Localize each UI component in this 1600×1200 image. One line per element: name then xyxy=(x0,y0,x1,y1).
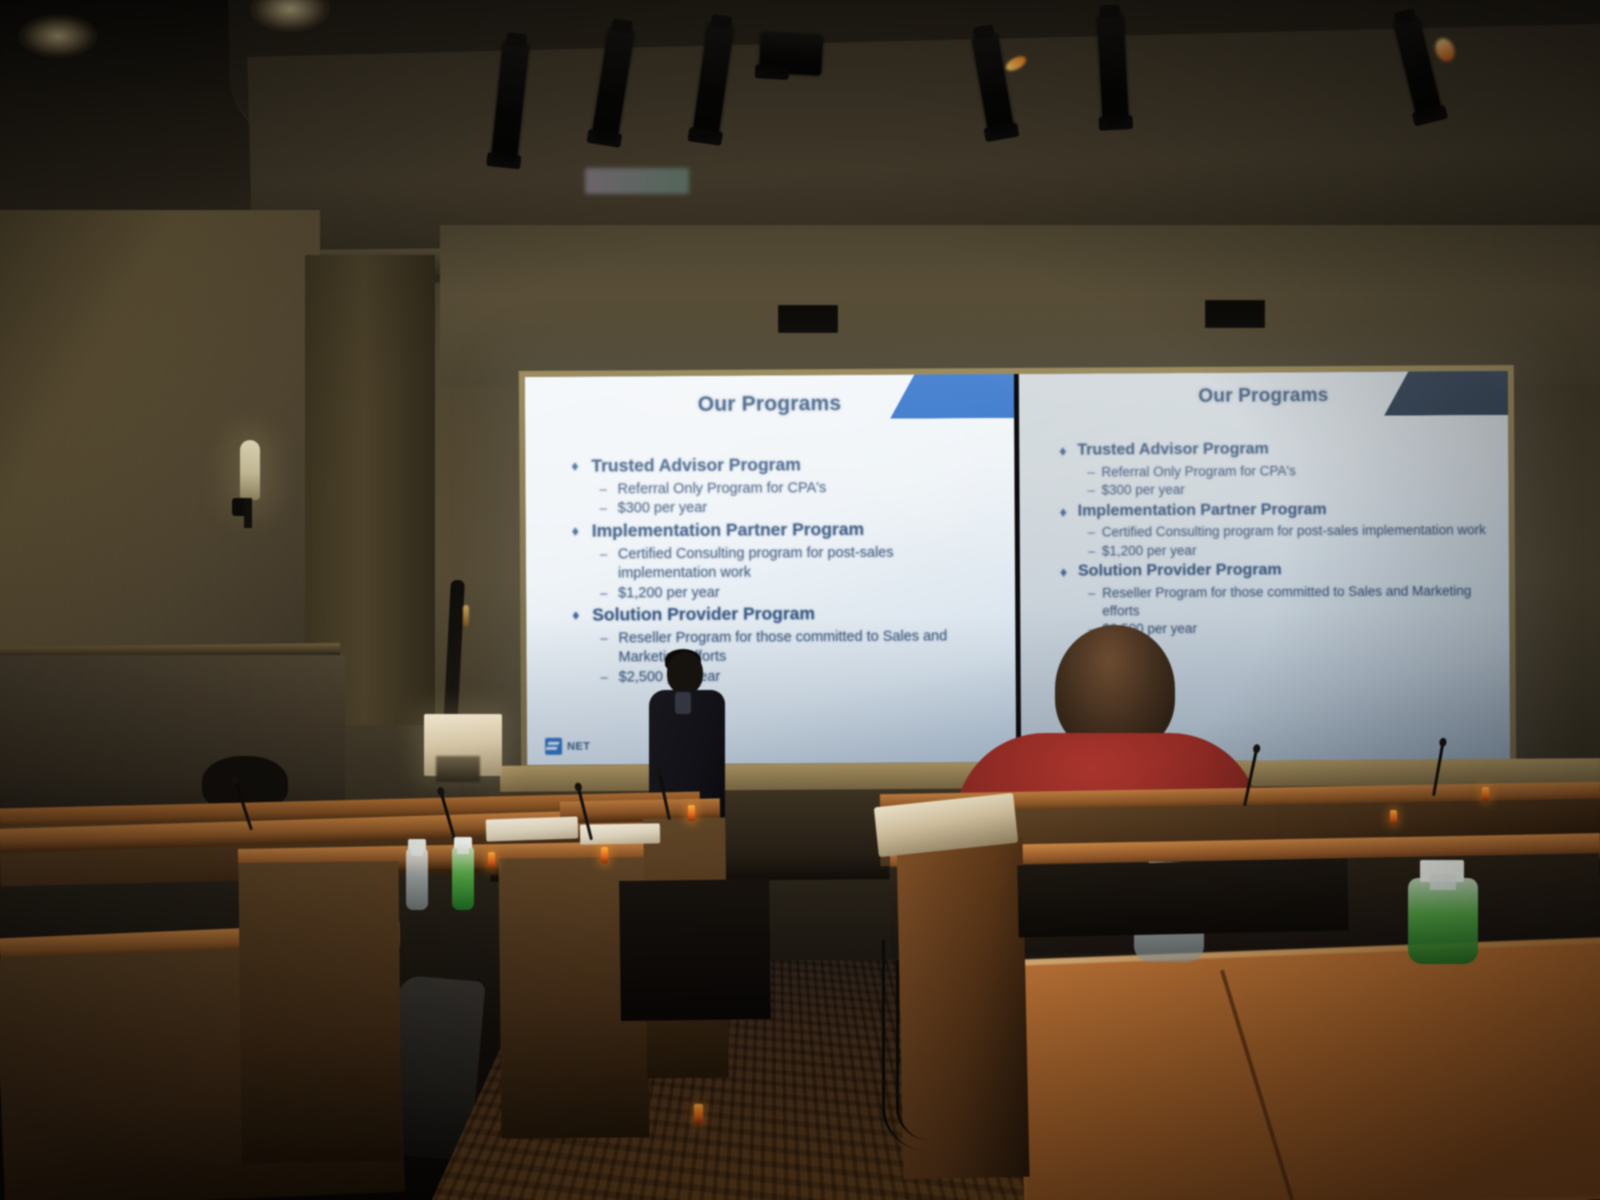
slide-bullet-label: Implementation Partner Program xyxy=(1078,501,1327,520)
water-bottle xyxy=(406,848,428,910)
slide-title: Our Programs xyxy=(525,391,1014,418)
slide-bullet-level1: ♦ Implementation Partner Program xyxy=(1058,498,1489,522)
slide-bullet-level2: – Referral Only Program for CPA's xyxy=(1057,461,1488,481)
slide-bullet-level2: – $1,200 per year xyxy=(570,582,995,603)
sub-bullet-glyph: – xyxy=(599,481,606,498)
sub-bullet-glyph: – xyxy=(600,585,607,602)
bullet-glyph: ♦ xyxy=(1059,442,1066,461)
back-wall-above-screens xyxy=(440,225,1600,385)
sub-bullet-glyph: – xyxy=(600,546,607,563)
track-light-yoke xyxy=(973,24,995,39)
paper-notebook xyxy=(580,823,660,844)
slide-bullet-level1: ♦ Trusted Advisor Program xyxy=(1057,437,1488,461)
track-light-fixture xyxy=(759,32,823,75)
bottle-neck xyxy=(1430,874,1456,890)
slide-subbullet-text: Referral Only Program for CPA's xyxy=(1101,463,1295,479)
foreground-desk-surface xyxy=(1015,939,1600,1200)
bullet-glyph: ♦ xyxy=(572,606,579,625)
slide-footer-logo-text: NET xyxy=(567,740,590,752)
slide-footer-logo: NET xyxy=(545,738,590,755)
bullet-glyph: ♦ xyxy=(1060,563,1067,582)
slide-bullet-label: Solution Provider Program xyxy=(592,604,815,625)
slide-title: Our Programs xyxy=(1019,384,1508,409)
slide-bullet-level2: – Certified Consulting program for post-… xyxy=(570,543,995,583)
track-light-yoke xyxy=(1100,5,1121,18)
slide-subbullet-text: $1,200 per year xyxy=(618,584,720,601)
slide-bullet-level2: – Referral Only Program for CPA's xyxy=(569,478,994,499)
slide-bullet-label: Trusted Advisor Program xyxy=(1077,440,1269,458)
decorative-plant-highlight xyxy=(463,605,469,627)
slide-bullet-level2: – Certified Consulting program for post-… xyxy=(1058,521,1489,541)
slide-bullet-label: Solution Provider Program xyxy=(1078,562,1282,580)
slide-subbullet-text: Referral Only Program for CPA's xyxy=(617,480,826,497)
slide-body: ♦ Trusted Advisor Program – Referral Onl… xyxy=(569,452,995,688)
slide-bullet-label: Implementation Partner Program xyxy=(592,519,864,541)
bottle-neck xyxy=(457,844,469,854)
desk-indicator-light xyxy=(488,852,495,868)
sub-bullet-glyph: – xyxy=(1087,464,1094,481)
desk-indicator-light xyxy=(694,1104,703,1124)
projector-light-patch xyxy=(585,168,689,194)
slide-bullet-level1: ♦ Trusted Advisor Program xyxy=(569,452,994,478)
presenter-collar xyxy=(675,692,691,714)
track-light-yoke xyxy=(611,18,633,33)
wall-sconce-arm xyxy=(244,498,252,528)
wall-vent xyxy=(778,305,838,333)
slide-bullet-level2: – $2,500 per year xyxy=(571,666,996,687)
floor-cable xyxy=(896,960,929,1140)
left-wall-panel xyxy=(0,210,320,680)
company-logo-icon xyxy=(545,738,562,755)
slide-subbullet-text: Certified Consulting program for post-sa… xyxy=(1102,522,1486,539)
desk-indicator-light xyxy=(1482,787,1489,801)
sub-bullet-glyph: – xyxy=(601,669,608,686)
paper-notebook xyxy=(486,816,579,841)
water-bottle-green xyxy=(1408,878,1478,964)
bottle-neck xyxy=(411,846,423,856)
water-bottle-green xyxy=(452,846,474,910)
slide-subbullet-text: Certified Consulting program for post-sa… xyxy=(618,545,894,582)
desk-indicator-light xyxy=(601,847,608,863)
slide-subbullet-text: $300 per year xyxy=(618,500,708,517)
slide-bullet-level2: – Reseller Program for those committed t… xyxy=(570,627,995,667)
sub-bullet-glyph: – xyxy=(1088,525,1095,542)
slide-bullet-level1: ♦ Implementation Partner Program xyxy=(570,517,995,543)
track-light-yoke xyxy=(711,14,732,29)
sub-bullet-glyph: – xyxy=(600,631,607,648)
wall-sconce-shade xyxy=(240,440,260,500)
track-light-yoke xyxy=(506,32,527,46)
slide-bullet-level2: – $1,200 per year xyxy=(1058,540,1489,560)
slide-left: Our Programs ♦ Trusted Advisor Program –… xyxy=(525,374,1016,765)
slide-bullet-level2: – $300 per year xyxy=(570,498,995,519)
desk-indicator-light xyxy=(1390,810,1397,824)
presenter-head xyxy=(667,652,703,694)
slide-bullet-level2: – $300 per year xyxy=(1057,479,1488,499)
bullet-glyph: ♦ xyxy=(572,522,579,541)
sub-bullet-glyph: – xyxy=(600,501,607,518)
track-light-barndoor xyxy=(755,64,790,80)
sub-bullet-glyph: – xyxy=(1087,483,1094,500)
slide-bullet-level1: ♦ Solution Provider Program xyxy=(570,602,995,628)
bullet-glyph: ♦ xyxy=(1060,502,1067,521)
bullet-glyph: ♦ xyxy=(571,457,578,476)
seat-back xyxy=(1017,859,1348,938)
lecture-hall-photo: Our Programs ♦ Trusted Advisor Program –… xyxy=(0,0,1600,1200)
sub-bullet-glyph: – xyxy=(1088,585,1095,602)
desk-center-left-face xyxy=(238,861,401,1163)
slide-bullet-level1: ♦ Solution Provider Program xyxy=(1058,558,1489,582)
slide-subbullet-text: Reseller Program for those committed to … xyxy=(1102,583,1471,618)
sub-bullet-glyph: – xyxy=(1088,543,1095,560)
slide-subbullet-text: $300 per year xyxy=(1101,482,1184,498)
seat-back xyxy=(619,879,771,1021)
slide-subbullet-text: $1,200 per year xyxy=(1102,543,1197,559)
desk-indicator-light xyxy=(688,805,695,821)
track-light-barndoor xyxy=(1098,115,1133,131)
slide-bullet-level2: – Reseller Program for those committed t… xyxy=(1058,582,1489,620)
slide-bullet-label: Trusted Advisor Program xyxy=(591,454,801,475)
slide-body: ♦ Trusted Advisor Program – Referral Onl… xyxy=(1057,437,1489,639)
lectern-shadow xyxy=(436,756,480,782)
wall-vent xyxy=(1205,300,1265,328)
